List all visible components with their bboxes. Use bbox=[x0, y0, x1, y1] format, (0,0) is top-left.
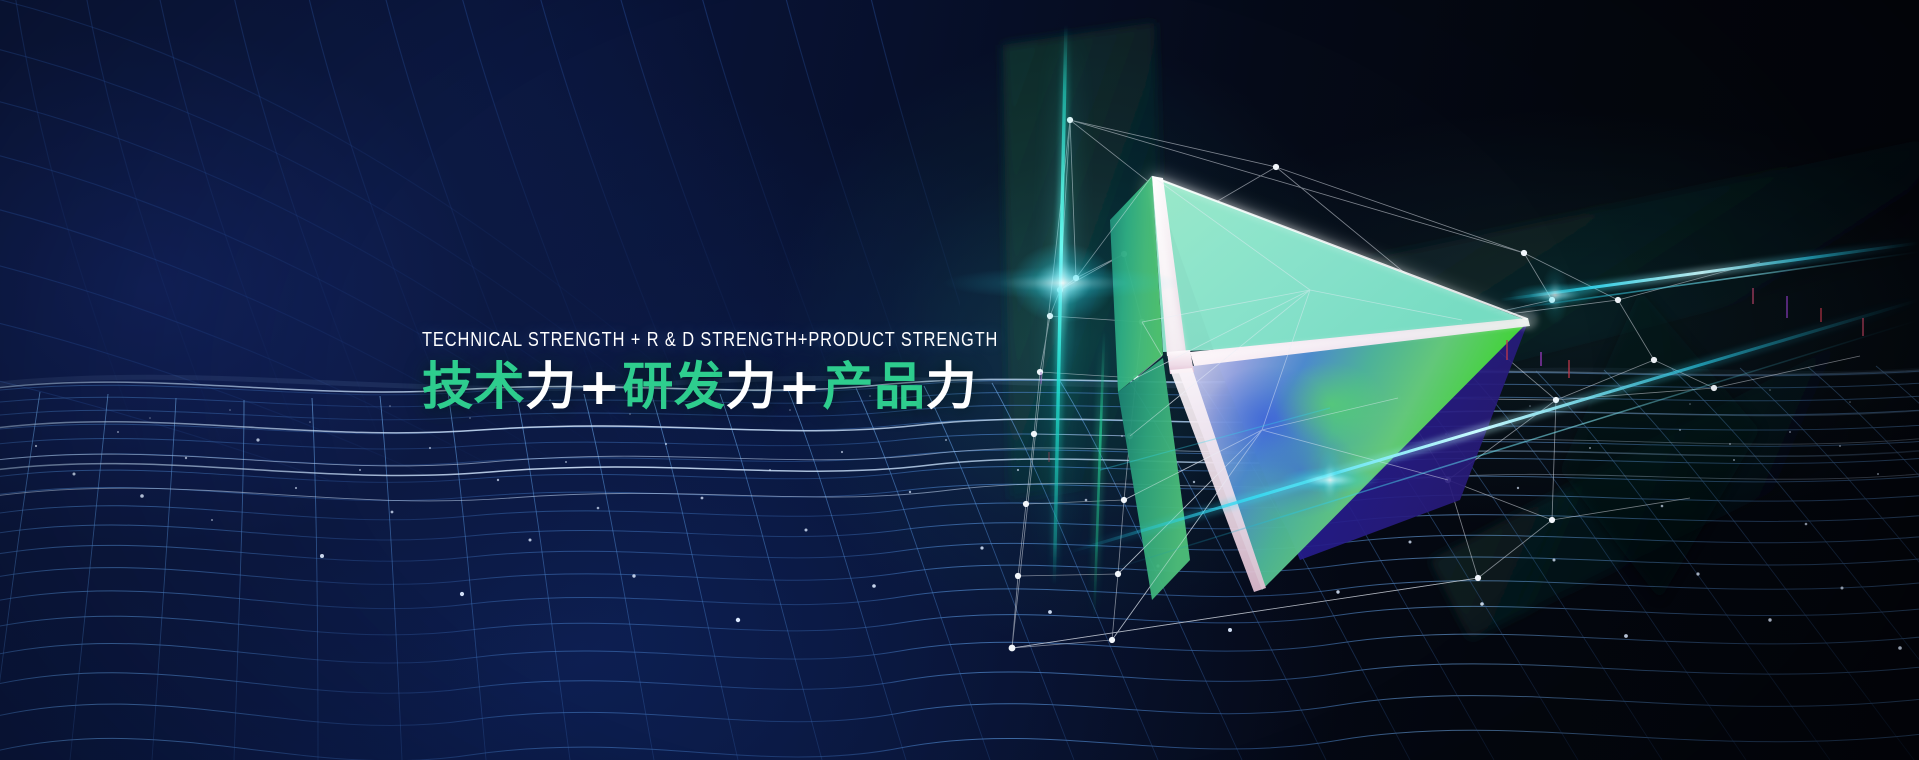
headline-block: TECHNICAL STRENGTH + R & D STRENGTH+PROD… bbox=[422, 330, 1142, 415]
title-segment-3: 研发 bbox=[622, 358, 725, 417]
title-segment-1: 力 bbox=[525, 358, 577, 417]
title-segment-0: 技术 bbox=[422, 358, 525, 417]
title-segment-5: + bbox=[777, 358, 822, 417]
title-segment-4: 力 bbox=[725, 358, 777, 417]
eyebrow-text: TECHNICAL STRENGTH + R & D STRENGTH+PROD… bbox=[422, 330, 998, 351]
hero-banner: TECHNICAL STRENGTH + R & D STRENGTH+PROD… bbox=[0, 0, 1919, 760]
title-segment-2: + bbox=[577, 358, 622, 417]
page-title: 技术力+研发力+产品力 bbox=[422, 360, 1142, 415]
title-segment-6: 产品 bbox=[822, 358, 925, 417]
title-segment-7: 力 bbox=[926, 358, 978, 417]
